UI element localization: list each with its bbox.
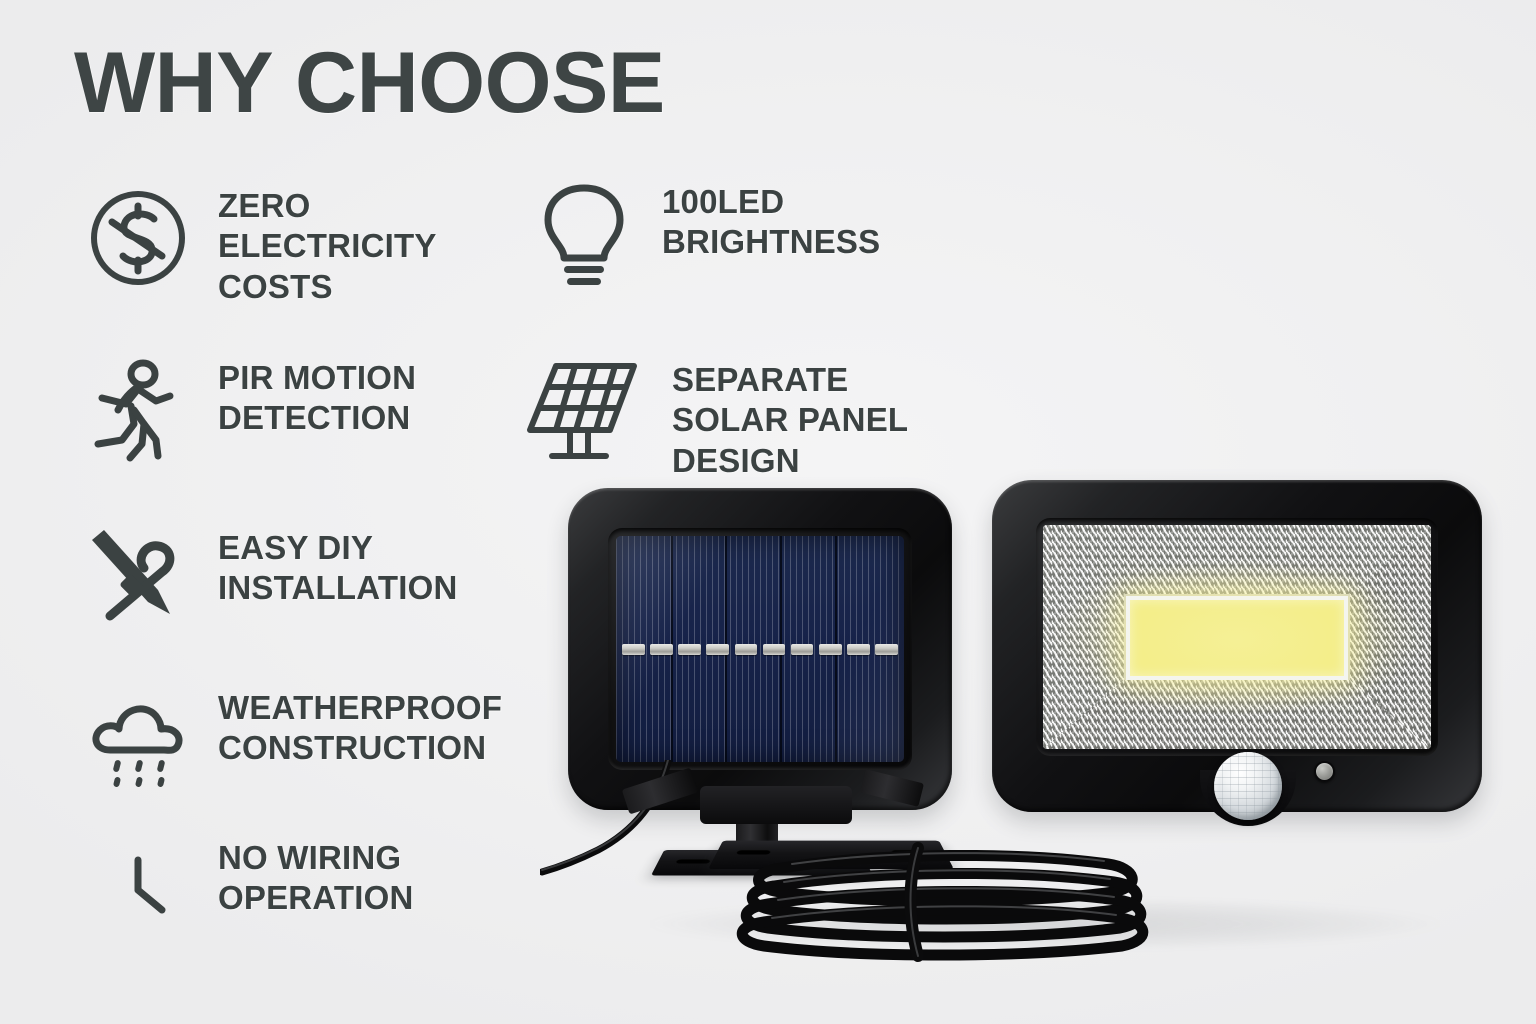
busbar	[875, 644, 898, 655]
led-flood-light	[992, 480, 1482, 812]
feature-label: PIR MOTION DETECTION	[218, 358, 416, 439]
busbar	[678, 644, 701, 655]
feature-label: 100LED BRIGHTNESS	[662, 182, 880, 263]
busbar	[791, 644, 814, 655]
bracket-hinge	[700, 786, 852, 824]
solar-busbar-row	[622, 644, 898, 655]
screwdriver-wrench-icon	[86, 528, 190, 632]
led-reflector-housing	[1043, 525, 1431, 749]
connection-cable-coil	[722, 834, 1162, 964]
product-photo-group	[540, 460, 1536, 1024]
feature-weatherproof-construction: WEATHERPROOF CONSTRUCTION	[86, 688, 502, 792]
feature-label: NO WIRING OPERATION	[218, 838, 414, 919]
busbar	[650, 644, 673, 655]
feature-label: ZERO ELECTRICITY COSTS	[218, 186, 437, 307]
busbar	[622, 644, 645, 655]
rain-cloud-icon	[86, 688, 190, 792]
solar-panel-bezel	[608, 528, 912, 770]
dollar-circle-icon	[86, 186, 190, 290]
page-title: WHY CHOOSE	[74, 40, 665, 126]
light-bulb-icon	[534, 182, 634, 286]
running-person-icon	[86, 358, 190, 462]
solar-panel-icon	[526, 360, 638, 464]
busbar	[847, 644, 870, 655]
feature-label: EASY DIY INSTALLATION	[218, 528, 457, 609]
feature-easy-diy-installation: EASY DIY INSTALLATION	[86, 528, 457, 632]
infographic-canvas: WHY CHOOSE ZERO ELECTRICITY COSTS	[0, 0, 1536, 1024]
feature-label: WEATHERPROOF CONSTRUCTION	[218, 688, 502, 769]
clock-icon	[86, 838, 190, 942]
ambient-light-sensor	[1314, 761, 1335, 782]
feature-zero-electricity-costs: ZERO ELECTRICITY COSTS	[86, 186, 437, 307]
cob-led-panel	[1126, 596, 1347, 680]
busbar	[819, 644, 842, 655]
busbar	[763, 644, 786, 655]
feature-no-wiring-operation: NO WIRING OPERATION	[86, 838, 414, 942]
busbar	[706, 644, 729, 655]
solar-cell-array	[616, 536, 904, 762]
busbar	[735, 644, 758, 655]
feature-pir-motion-detection: PIR MOTION DETECTION	[86, 358, 416, 462]
fresnel-lens-pattern	[1214, 752, 1282, 820]
led-light-bezel	[1036, 518, 1438, 756]
pir-sensor-dome	[1214, 752, 1282, 820]
feature-led-brightness: 100LED BRIGHTNESS	[534, 182, 880, 286]
